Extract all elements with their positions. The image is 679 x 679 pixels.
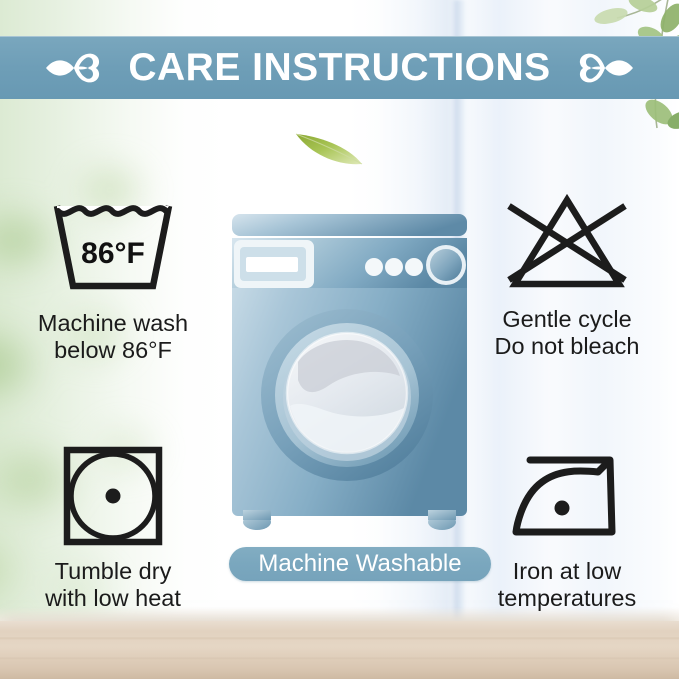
control-button xyxy=(385,258,403,276)
tumble-dry-low-icon xyxy=(61,440,165,552)
control-button xyxy=(365,258,383,276)
washer-top-lid xyxy=(232,214,467,236)
banner: CARE INSTRUCTIONS xyxy=(0,36,679,99)
iron-low-icon xyxy=(502,440,632,552)
machine-washable-badge: Machine Washable xyxy=(229,547,491,581)
badge-label: Machine Washable xyxy=(258,552,461,576)
care-item-do-not-bleach: Gentle cycle Do not bleach xyxy=(462,188,672,361)
heat-level-dot xyxy=(555,501,570,516)
wash-temperature-value: 86°F xyxy=(81,237,145,270)
care-item-label: Machine wash below 86°F xyxy=(38,310,188,365)
wood-table-surface xyxy=(0,621,679,679)
triangle-crossed-out-icon xyxy=(501,188,633,300)
heat-level-dot xyxy=(106,489,121,504)
floating-leaf-icon xyxy=(292,126,366,170)
fleur-de-lis-icon xyxy=(573,46,635,90)
care-item-machine-wash: 86°F Machine wash below 86°F xyxy=(8,192,218,365)
control-button xyxy=(405,258,423,276)
fleur-de-lis-icon xyxy=(44,46,106,90)
wash-basin-icon: 86°F xyxy=(47,192,179,304)
care-item-label: Tumble dry with low heat xyxy=(45,558,181,613)
control-knob xyxy=(430,249,462,281)
detergent-drawer-slot xyxy=(246,257,298,272)
care-item-label: Gentle cycle Do not bleach xyxy=(494,306,639,361)
banner-title: CARE INSTRUCTIONS xyxy=(128,48,550,87)
care-item-tumble-dry: Tumble dry with low heat xyxy=(8,440,218,613)
washing-machine-illustration xyxy=(228,210,471,535)
care-item-label: Iron at low temperatures xyxy=(498,558,636,613)
care-item-iron-low: Iron at low temperatures xyxy=(462,440,672,613)
care-instructions-poster: CARE INSTRUCTIONS xyxy=(0,0,679,679)
wood-grain-texture xyxy=(0,621,679,679)
